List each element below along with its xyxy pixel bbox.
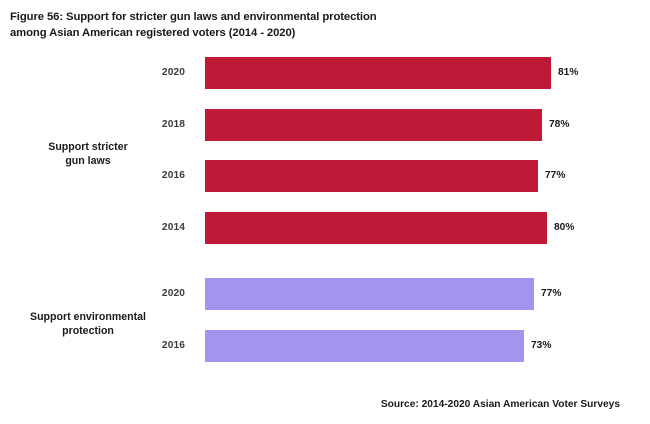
bar-year-label: 2020 <box>95 278 185 310</box>
bar-value-label: 77% <box>541 278 561 310</box>
group-label-gun-laws-line-1: Support stricter <box>0 141 176 155</box>
source-note: Source: 2014-2020 Asian American Voter S… <box>381 399 620 410</box>
bar-value-label: 77% <box>545 160 565 192</box>
bar-value-label: 78% <box>549 109 569 141</box>
bar-year-label: 2018 <box>95 109 185 141</box>
bar-gun-laws-2020[interactable] <box>205 57 551 89</box>
bar-row: 2016 77% <box>0 160 650 192</box>
bar-environmental-2020[interactable] <box>205 278 534 310</box>
group-label-environmental-line-1: Support environmental <box>0 311 176 325</box>
bar-row: 2020 77% <box>0 278 650 310</box>
bar-gun-laws-2016[interactable] <box>205 160 538 192</box>
bar-row: 2016 73% <box>0 330 650 362</box>
figure-56-chart: Figure 56: Support for stricter gun laws… <box>0 0 650 424</box>
bar-gun-laws-2018[interactable] <box>205 109 542 141</box>
plot-area: Support stricter gun laws Support enviro… <box>0 0 650 380</box>
bar-value-label: 80% <box>554 212 574 244</box>
bar-year-label: 2016 <box>95 160 185 192</box>
bar-year-label: 2020 <box>95 57 185 89</box>
bar-year-label: 2014 <box>95 212 185 244</box>
bar-environmental-2016[interactable] <box>205 330 524 362</box>
bar-row: 2020 81% <box>0 57 650 89</box>
bar-value-label: 81% <box>558 57 578 89</box>
bar-gun-laws-2014[interactable] <box>205 212 547 244</box>
bar-year-label: 2016 <box>95 330 185 362</box>
bar-row: 2014 80% <box>0 212 650 244</box>
bar-row: 2018 78% <box>0 109 650 141</box>
bar-value-label: 73% <box>531 330 551 362</box>
